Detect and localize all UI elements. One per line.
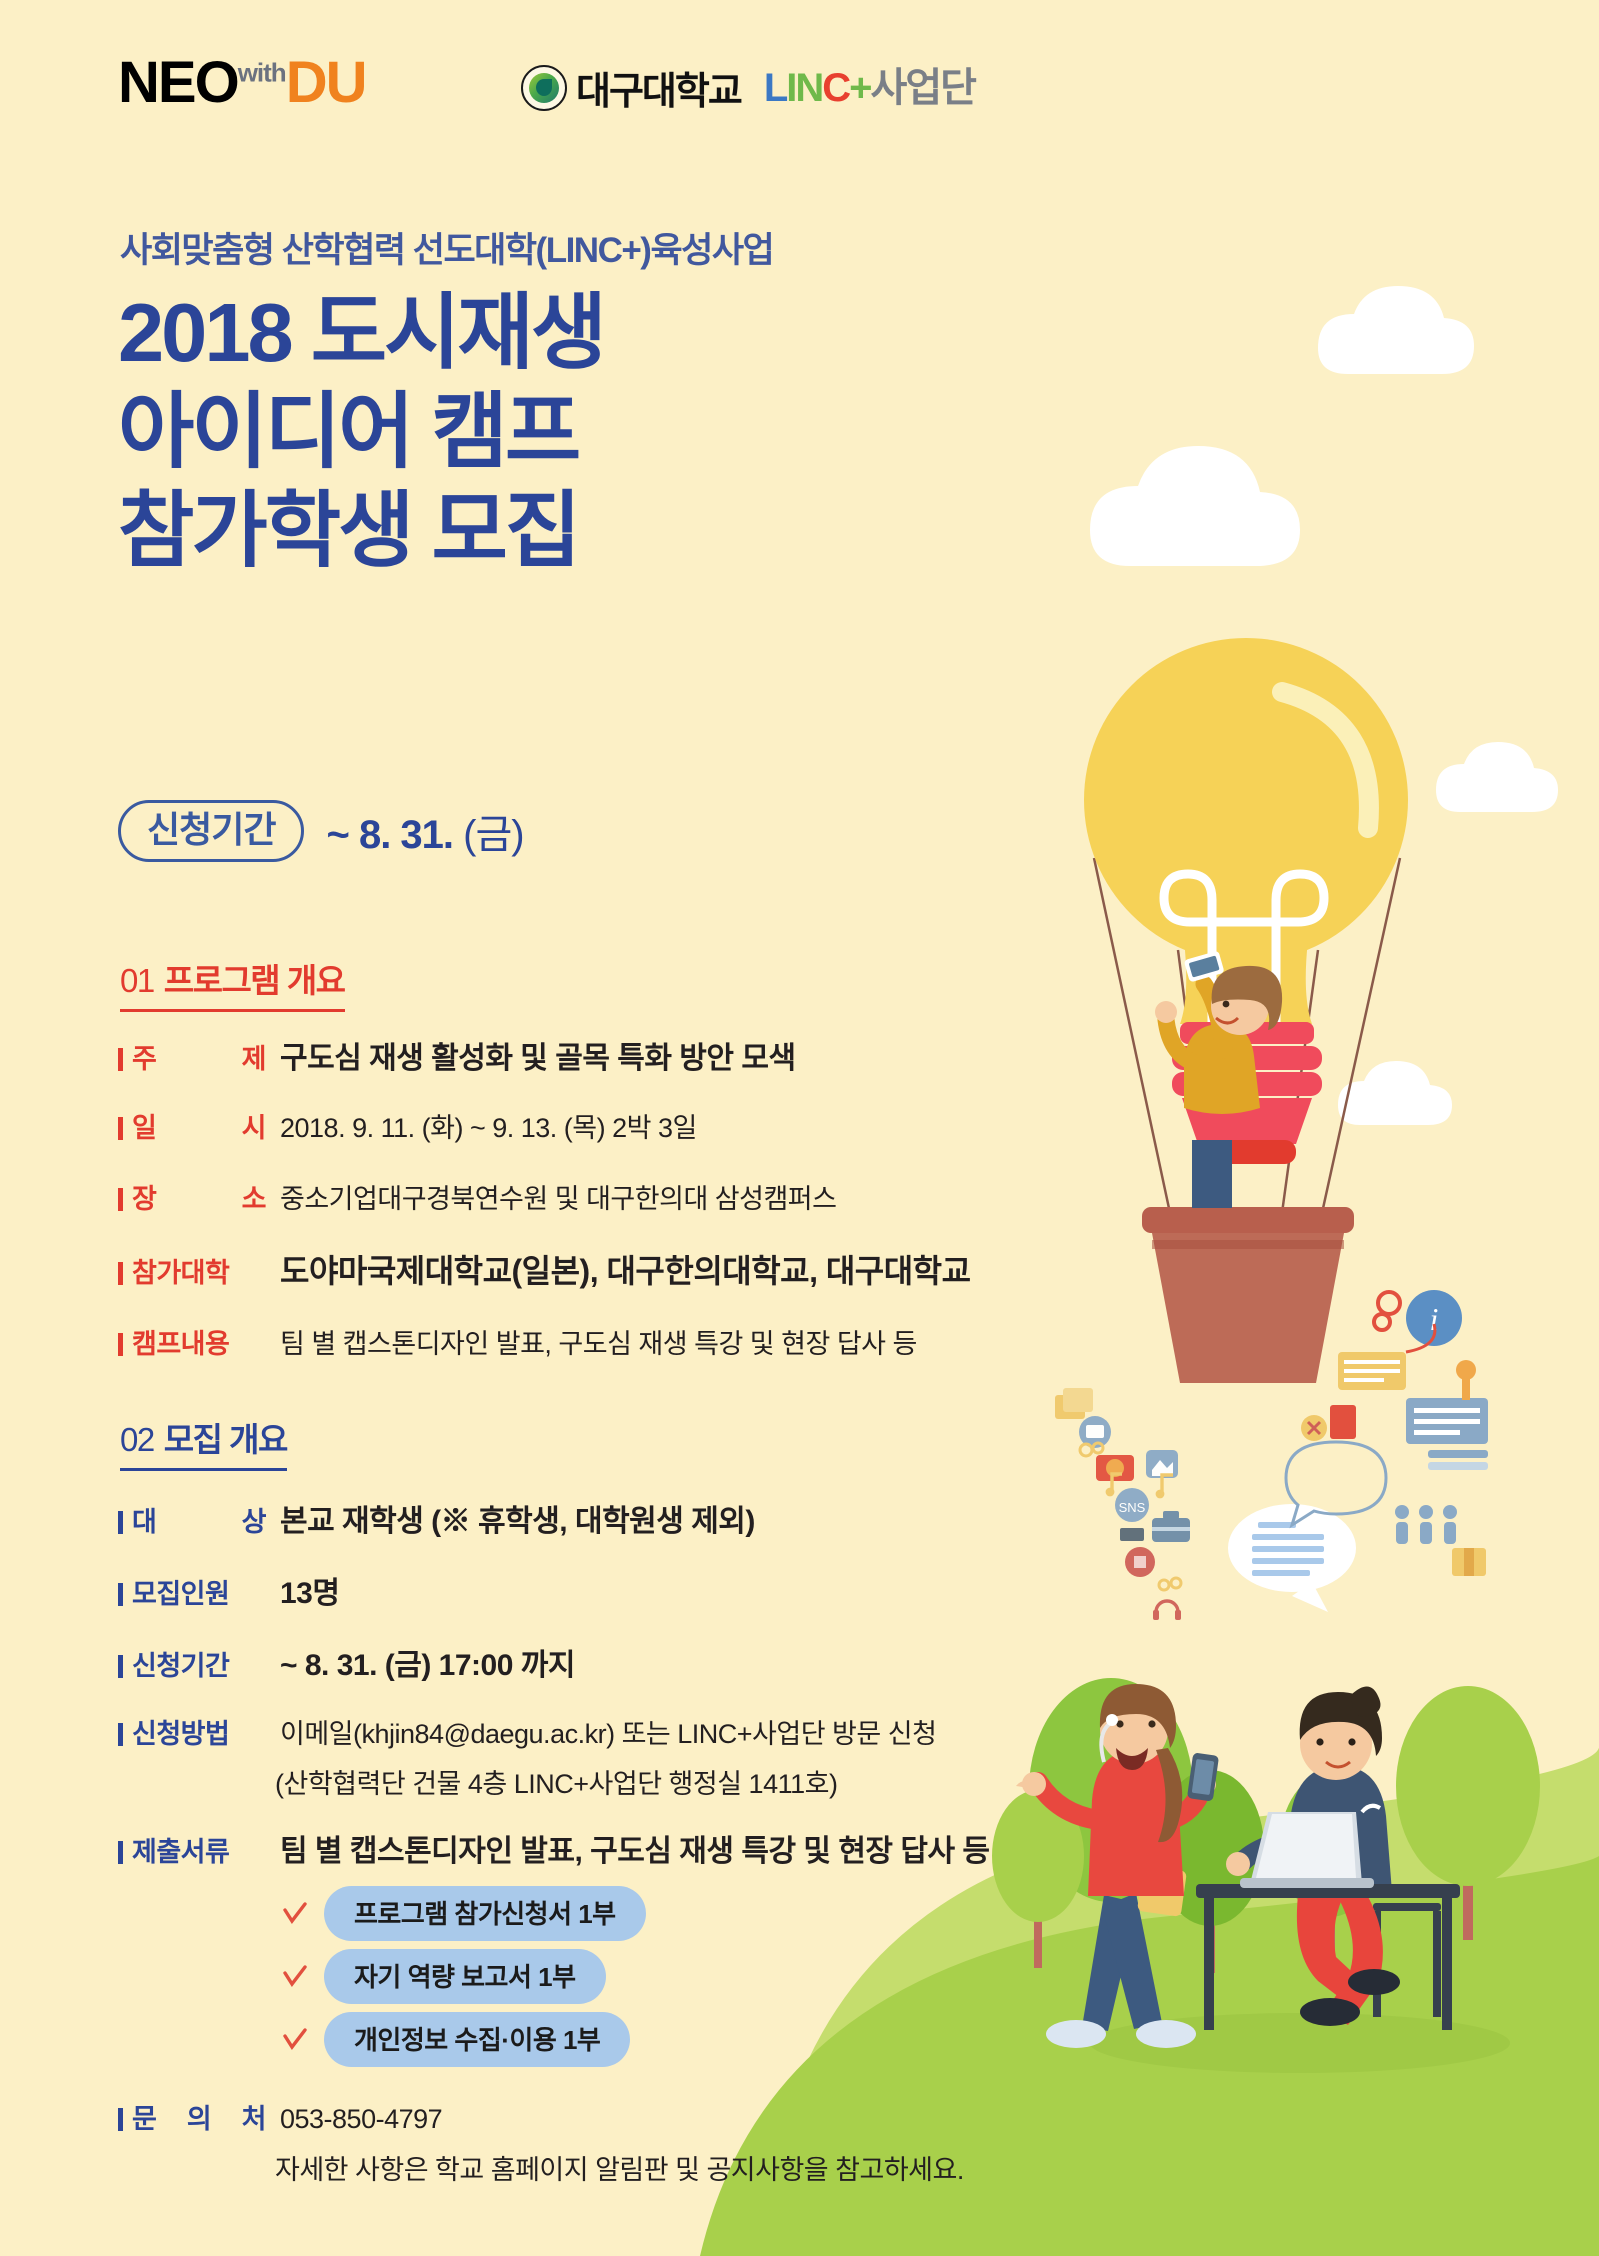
row-label: 대 상 <box>132 1500 280 1539</box>
section-1-title: 프로그램 개요 <box>164 962 345 999</box>
section-1-heading: 01프로그램 개요 <box>120 954 345 1012</box>
checklist-label: 자기 역량 보고서 1부 <box>324 1949 606 2004</box>
row-venue: 장 소 중소기업대구경북연수원 및 대구한의대 삼성캠퍼스 <box>118 1177 836 1216</box>
checklist-label: 프로그램 참가신청서 1부 <box>324 1886 646 1941</box>
linc-letter-c: C <box>822 66 849 110</box>
row-bullet <box>118 2108 123 2131</box>
svg-text:SNS: SNS <box>1119 1500 1146 1515</box>
university-name: 대구대학교 <box>576 60 741 115</box>
checklist-item: 자기 역량 보고서 1부 <box>282 1949 606 2004</box>
row-application-method: 신청방법 이메일(khjin84@daegu.ac.kr) 또는 LINC+사업… <box>118 1712 936 1751</box>
application-period-badge: 신청기간 ~ 8. 31. (금) <box>118 800 524 862</box>
section-2-number: 02 <box>120 1421 154 1458</box>
period-label: 신청기간 <box>118 800 304 862</box>
title-line-1: 2018 도시재생 <box>118 284 604 383</box>
linc-suffix: 사업단 <box>871 66 975 110</box>
lightbulb-balloon-illustration <box>1084 638 1408 1383</box>
row-label: 주 제 <box>132 1037 280 1076</box>
row-label: 모집인원 <box>132 1572 280 1611</box>
row-bullet <box>118 1117 123 1140</box>
neo-text: NEO <box>118 50 238 115</box>
row-bullet <box>118 1333 123 1356</box>
row-value: 2018. 9. 11. (화) ~ 9. 13. (목) 2박 3일 <box>280 1106 697 1145</box>
poster-canvas: SNS i <box>0 0 1599 2256</box>
row-value: 중소기업대구경북연수원 및 대구한의대 삼성캠퍼스 <box>280 1177 836 1216</box>
floating-icons-cluster: SNS <box>1055 1388 1190 1620</box>
checklist-item: 프로그램 참가신청서 1부 <box>282 1886 646 1941</box>
program-subtitle: 사회맞춤형 산학협력 선도대학(LINC+)육성사업 <box>120 222 773 273</box>
checklist-item: 개인정보 수집·이용 1부 <box>282 2012 630 2067</box>
row-target: 대 상 본교 재학생 (※ 휴학생, 대학원생 제외) <box>118 1496 755 1540</box>
check-icon <box>282 1964 308 1990</box>
row-documents: 제출서류 팀 별 캡스톤디자인 발표, 구도심 재생 특강 및 현장 답사 등 <box>118 1826 989 1870</box>
linc-plus-sign: + <box>849 66 870 110</box>
row-bullet <box>118 1723 123 1746</box>
period-value: ~ 8. 31. (금) <box>326 802 523 860</box>
row-value: 구도심 재생 활성화 및 골목 특화 방안 모색 <box>280 1033 796 1077</box>
row-quota: 모집인원 13명 <box>118 1568 339 1612</box>
row-bullet <box>118 1511 123 1534</box>
row-value: 도야마국제대학교(일본), 대구한의대학교, 대구대학교 <box>280 1246 971 1292</box>
row-value: 본교 재학생 (※ 휴학생, 대학원생 제외) <box>280 1496 755 1540</box>
row-value: 팀 별 캡스톤디자인 발표, 구도심 재생 특강 및 현장 답사 등 <box>280 1322 917 1361</box>
linc-letter-l: L <box>764 66 786 110</box>
row-participating-universities: 참가대학 도야마국제대학교(일본), 대구한의대학교, 대구대학교 <box>118 1246 971 1292</box>
row-subject: 주 제 구도심 재생 활성화 및 골목 특화 방안 모색 <box>118 1033 796 1077</box>
period-date-text: ~ 8. 31. <box>326 813 453 857</box>
row-bullet <box>118 1583 123 1606</box>
daegu-university-logo: 대구대학교 LINC+사업단 <box>521 60 975 115</box>
row-label: 제출서류 <box>132 1830 280 1869</box>
section-2-title: 모집 개요 <box>164 1421 287 1458</box>
neo-with-du-logo: NEOwithDU <box>118 54 365 112</box>
cloud-icon <box>1338 1061 1452 1125</box>
row-datetime: 일 시 2018. 9. 11. (화) ~ 9. 13. (목) 2박 3일 <box>118 1106 697 1145</box>
cloud-icon <box>1090 446 1300 566</box>
check-icon <box>282 2027 308 2053</box>
linc-plus-logo: LINC+사업단 <box>764 68 975 108</box>
row-bullet <box>118 1262 123 1285</box>
row-value: 팀 별 캡스톤디자인 발표, 구도심 재생 특강 및 현장 답사 등 <box>280 1826 989 1870</box>
people-icon <box>1395 1505 1457 1544</box>
du-text: DU <box>286 50 366 115</box>
balloon-basket <box>1142 1207 1354 1383</box>
row-bullet <box>118 1188 123 1211</box>
row-application-period: 신청기간 ~ 8. 31. (금) 17:00 까지 <box>118 1640 575 1684</box>
row-value: ~ 8. 31. (금) 17:00 까지 <box>280 1640 575 1684</box>
row-bullet <box>118 1048 123 1071</box>
title-line-2: 아이디어 캠프 <box>118 383 604 482</box>
period-day-text: (금) <box>463 813 523 857</box>
checklist-label: 개인정보 수집·이용 1부 <box>324 2012 630 2067</box>
contact-label: 문 의 처 <box>132 2097 280 2136</box>
section-2-heading: 02모집 개요 <box>120 1413 287 1471</box>
page-title: 2018 도시재생 아이디어 캠프 참가학생 모집 <box>118 284 604 580</box>
linc-letter-n: N <box>795 66 822 110</box>
row-value: 이메일(khjin84@daegu.ac.kr) 또는 LINC+사업단 방문 … <box>280 1712 936 1751</box>
with-text: with <box>238 58 286 88</box>
linc-letter-i: I <box>786 66 795 110</box>
check-icon <box>282 1901 308 1927</box>
row-bullet <box>118 1841 123 1864</box>
cloud-icon <box>1436 742 1558 812</box>
row-bullet <box>118 1655 123 1678</box>
header-logos: NEOwithDU 대구대학교 LINC+사업단 <box>0 52 1599 124</box>
cloud-icon <box>1318 286 1474 374</box>
box-icon <box>1452 1548 1486 1576</box>
row-value: 13명 <box>280 1568 339 1612</box>
row-label: 신청기간 <box>132 1644 280 1683</box>
row-label: 장 소 <box>132 1177 280 1216</box>
row-camp-content: 캠프내용 팀 별 캡스톤디자인 발표, 구도심 재생 특강 및 현장 답사 등 <box>118 1322 917 1361</box>
contact-note: 자세한 사항은 학교 홈페이지 알림판 및 공지사항을 참고하세요. <box>275 2148 964 2187</box>
row-label: 신청방법 <box>132 1712 280 1751</box>
contact-row: 문 의 처 053-850-4797 <box>118 2097 442 2136</box>
row-label: 일 시 <box>132 1106 280 1145</box>
contact-phone: 053-850-4797 <box>280 2104 442 2135</box>
section-1-number: 01 <box>120 962 154 999</box>
row-label: 캠프내용 <box>132 1322 280 1361</box>
university-seal-icon <box>521 65 567 111</box>
row-application-method-note: (산학협력단 건물 4층 LINC+사업단 행정실 1411호) <box>275 1762 837 1801</box>
title-line-3: 참가학생 모집 <box>118 482 604 581</box>
row-label: 참가대학 <box>132 1251 280 1290</box>
